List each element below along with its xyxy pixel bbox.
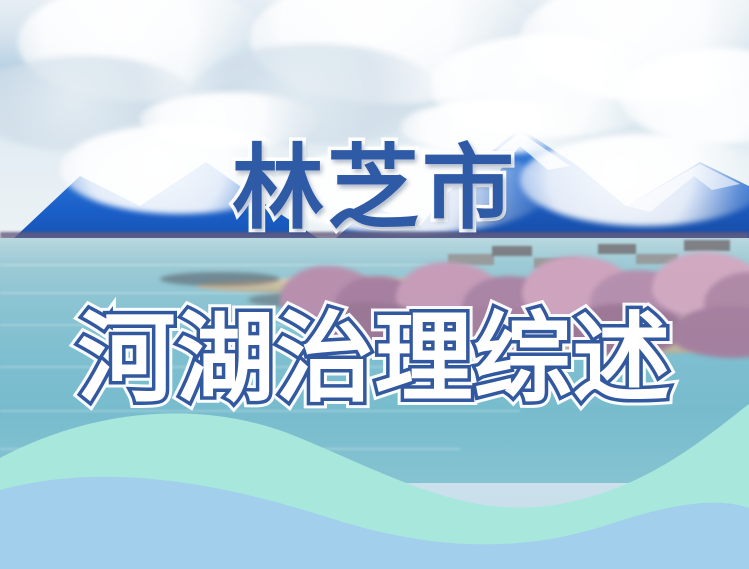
village-house — [492, 246, 532, 256]
water-streak — [0, 366, 400, 368]
cloud-wisp-a — [140, 92, 320, 148]
blossom-grove — [280, 236, 749, 356]
wave-decoration — [0, 394, 749, 569]
blossom-cluster — [310, 302, 430, 356]
poster-card: 林芝市 河湖治理综述 河湖治理综述 — [0, 0, 749, 569]
cloud-low-mid — [270, 146, 550, 234]
village-house — [598, 244, 636, 254]
bank-scrub-a — [160, 272, 280, 286]
blossom-cluster — [430, 306, 560, 358]
cloud-wisp-b — [400, 100, 590, 154]
cloud-layer — [0, 0, 749, 250]
blossom-cluster — [560, 304, 684, 356]
village-house — [684, 240, 730, 251]
